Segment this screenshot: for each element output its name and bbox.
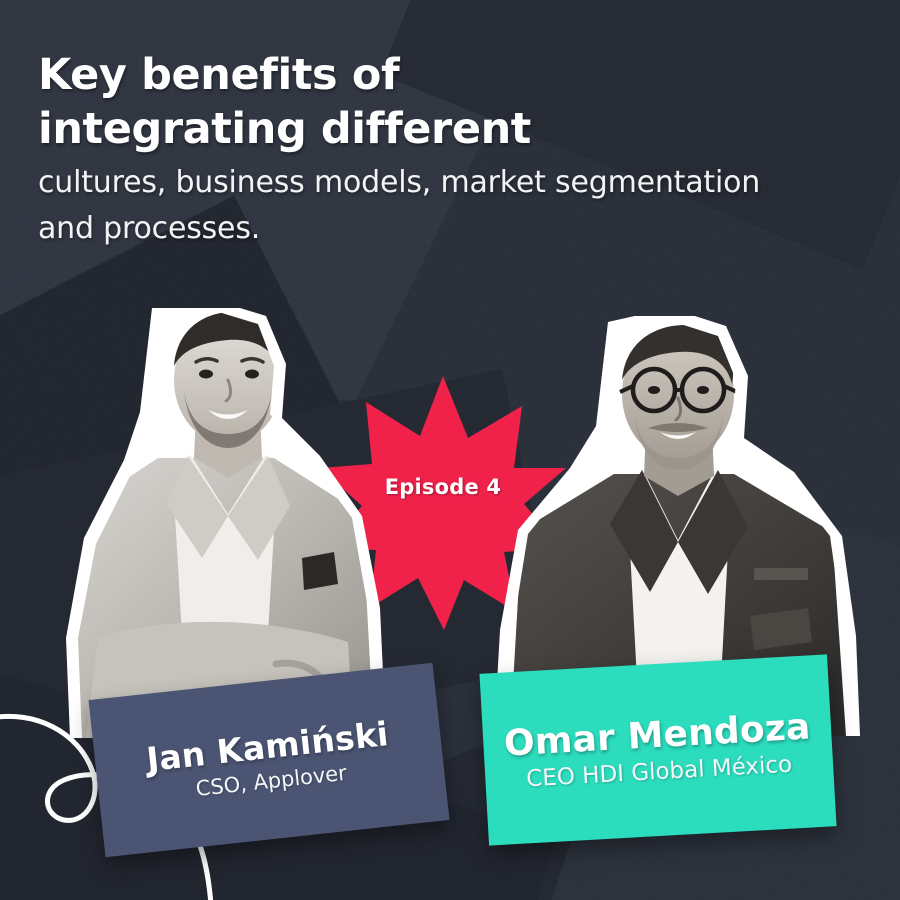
subheadline: cultures, business models, market segmen…: [38, 160, 868, 252]
headline-line-1: Key benefits of: [38, 50, 399, 100]
headline: Key benefits of integrating different: [38, 48, 868, 156]
subheadline-line-2: and processes.: [38, 211, 260, 246]
podcast-episode-card: Episode 4: [0, 0, 900, 900]
headline-line-2: integrating different: [38, 104, 531, 154]
headline-block: Key benefits of integrating different cu…: [38, 48, 868, 252]
speaker-nameplate-right: Omar Mendoza CEO HDI Global México: [479, 654, 836, 845]
subheadline-line-1: cultures, business models, market segmen…: [38, 165, 760, 200]
